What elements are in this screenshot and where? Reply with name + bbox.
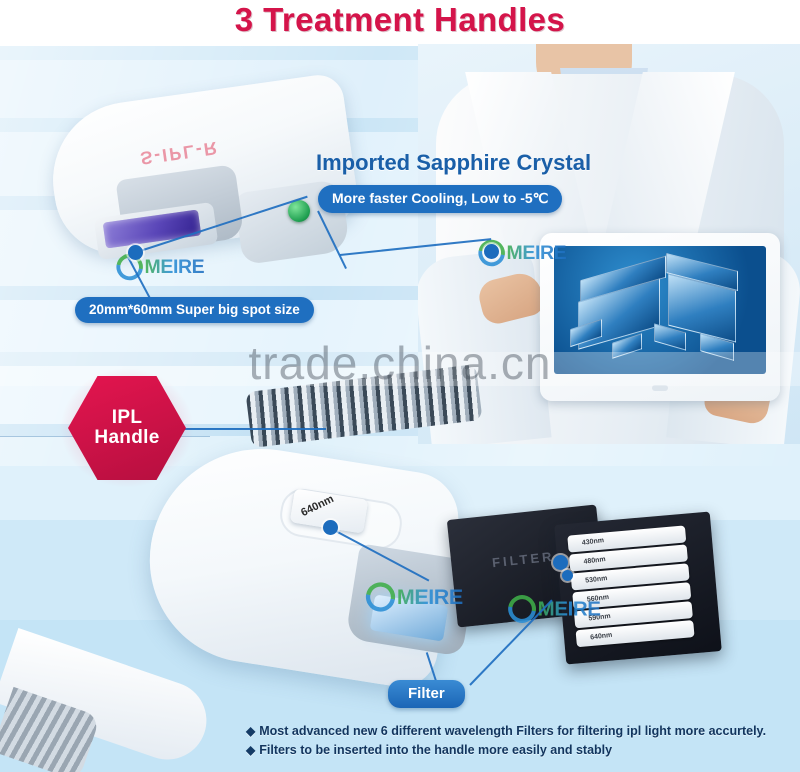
- list-item: ◆ Most advanced new 6 different waveleng…: [246, 722, 794, 741]
- callout-dot-sapphire: [484, 244, 499, 259]
- meire-wordmark: MEIRE: [538, 597, 601, 621]
- filter-cartridge-tray: 430nm 480nm 530nm 560nm 590nm 640nm: [567, 523, 703, 652]
- filter-cartridge-label: 480nm: [583, 556, 606, 566]
- bullet-text: Most advanced new 6 different wavelength…: [259, 722, 766, 741]
- callout-leader-line: [178, 428, 326, 430]
- spot-size-badge: 20mm*60mm Super big spot size: [75, 297, 314, 323]
- meire-wordmark: MEIRE: [144, 256, 204, 279]
- meire-ring-icon: [366, 582, 395, 611]
- meire-logo-watermark: MEIRE: [508, 595, 600, 623]
- callout-dot-filter-box-small: [562, 570, 573, 581]
- filter-cartridge-label: 640nm: [590, 632, 613, 642]
- bullet-text: Filters to be inserted into the handle m…: [259, 741, 612, 760]
- callout-dot-filter-cartridge: [323, 520, 338, 535]
- list-item: ◆ Filters to be inserted into the handle…: [246, 741, 794, 760]
- callout-dot-spot-size: [128, 245, 143, 260]
- callout-dot-filter-box: [553, 555, 568, 570]
- feature-bullet-list: ◆ Most advanced new 6 different waveleng…: [246, 722, 794, 760]
- hex-badge-line1: IPL: [112, 408, 142, 428]
- meire-wordmark: MEIRE: [397, 585, 463, 610]
- hex-badge-line2: Handle: [94, 428, 159, 448]
- meire-wordmark: MEIRE: [506, 242, 566, 265]
- product-banner: 3 Treatment Handles S-IPL: [0, 0, 800, 772]
- page-title: 3 Treatment Handles: [0, 1, 800, 39]
- meire-logo-watermark: MEIRE: [366, 582, 463, 611]
- cooling-badge: More faster Cooling, Low to -5℃: [318, 185, 562, 213]
- diamond-bullet-icon: ◆: [246, 741, 255, 759]
- sapphire-heading: Imported Sapphire Crystal: [316, 150, 591, 176]
- diamond-bullet-icon: ◆: [246, 722, 255, 740]
- handpiece-power-indicator: [288, 200, 310, 222]
- filter-cartridge-label: 530nm: [585, 575, 608, 585]
- filter-badge: Filter: [388, 680, 465, 708]
- filter-cartridge-label: 430nm: [582, 537, 605, 547]
